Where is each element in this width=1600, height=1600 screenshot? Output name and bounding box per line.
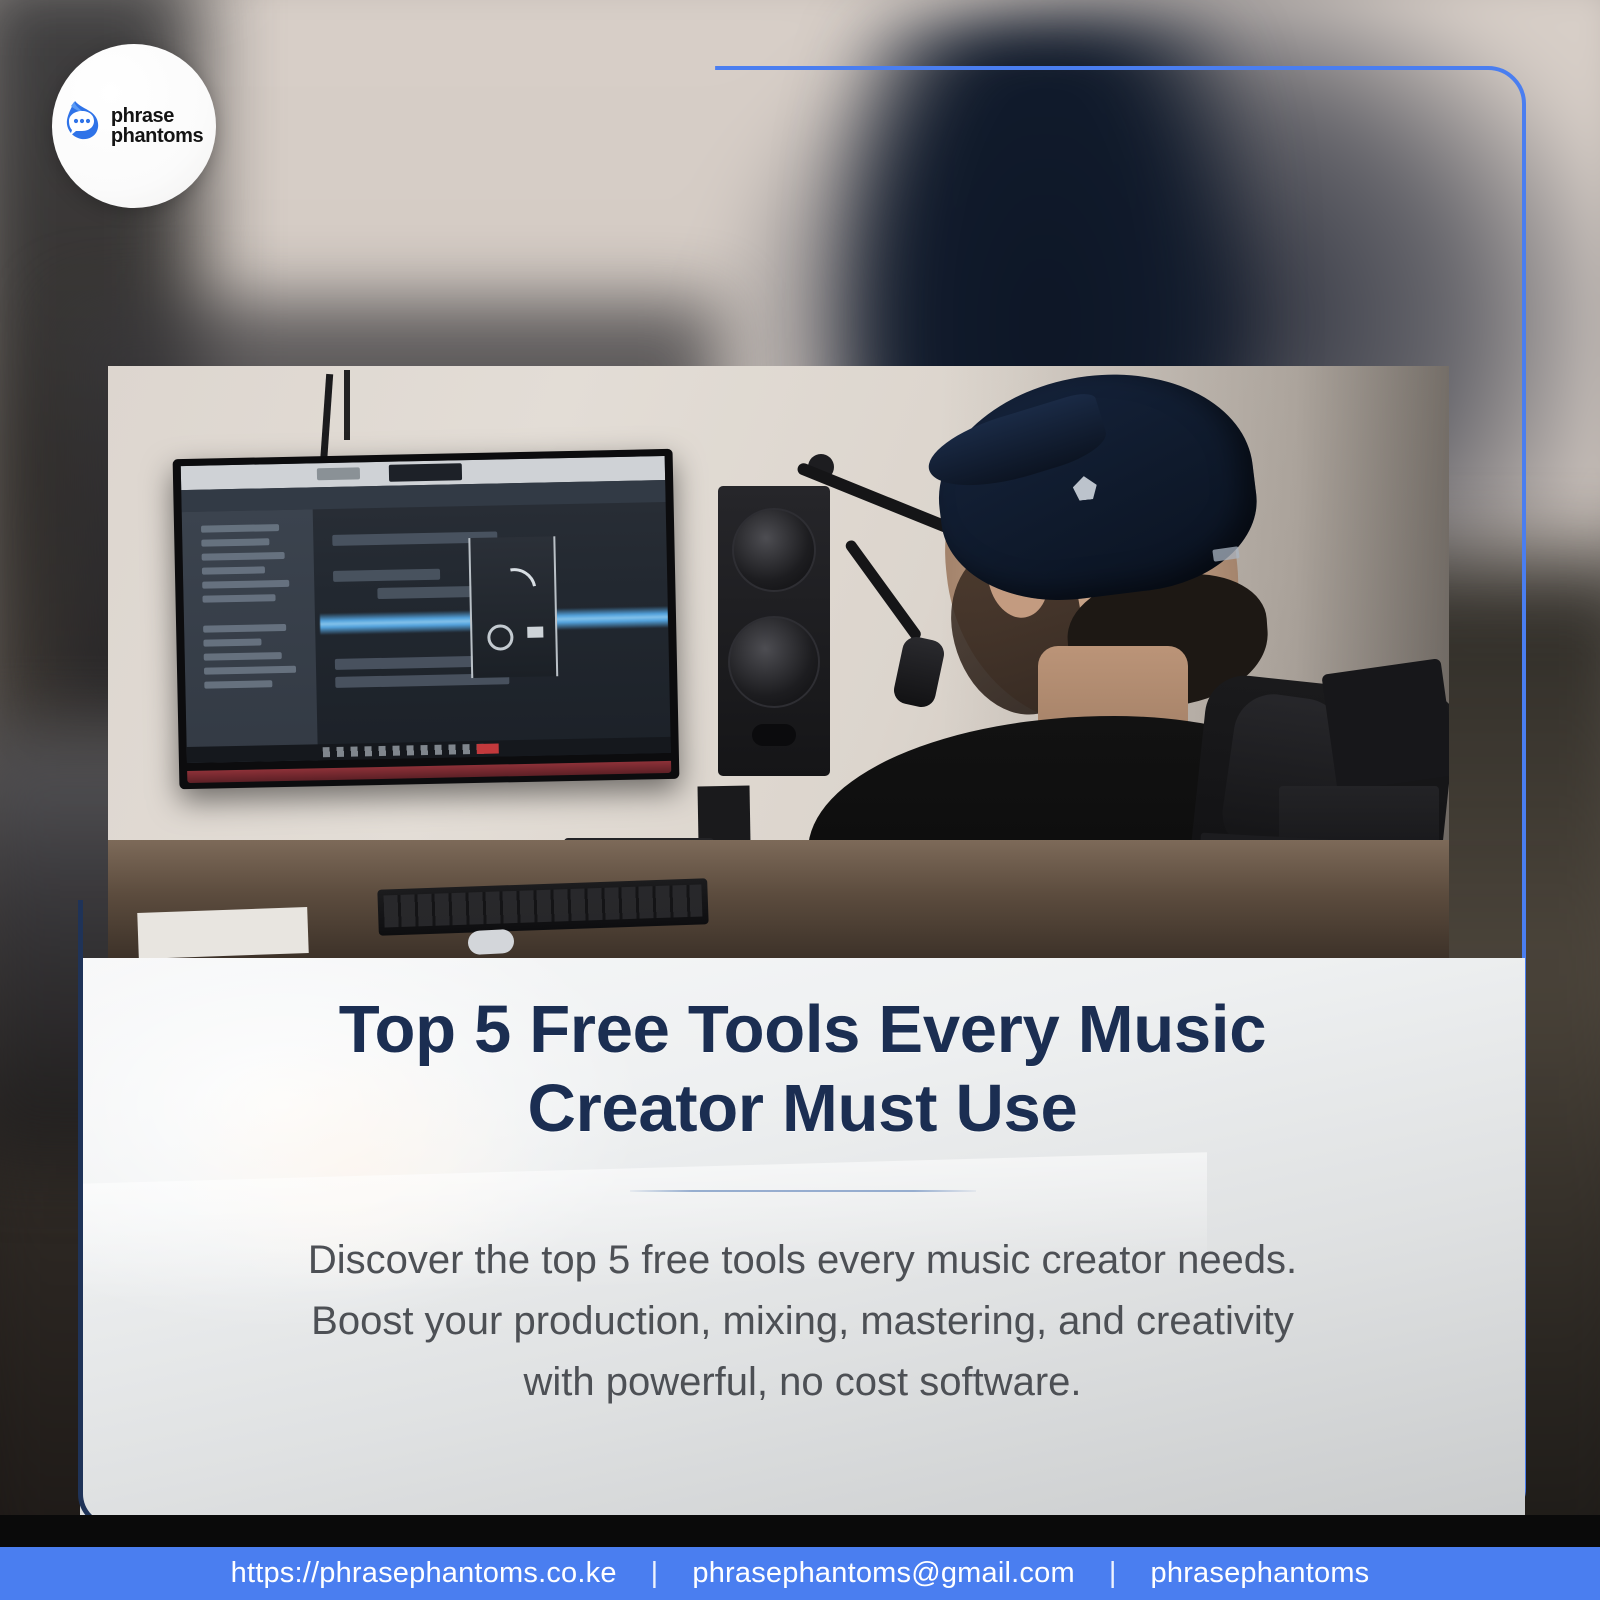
footer-email-link[interactable]: phrasephantoms@gmail.com xyxy=(692,1557,1074,1590)
phantom-speech-bubble-icon xyxy=(61,99,105,154)
brand-wordmark: phrase phantoms xyxy=(111,106,203,146)
desk-surface xyxy=(108,840,1449,960)
brand-logo-inner: phrase phantoms xyxy=(61,99,203,154)
content-card: Top 5 Free Tools Every Music Creator Mus… xyxy=(80,958,1525,1525)
studio-monitor-speaker xyxy=(718,486,830,776)
contact-footer-bar: https://phrasephantoms.co.ke | phrasepha… xyxy=(0,1547,1600,1600)
computer-monitor xyxy=(173,449,680,789)
speaker-woofer-icon xyxy=(728,616,820,708)
daw-plugin-window xyxy=(468,536,558,678)
daw-track-row xyxy=(202,566,265,574)
page-title: Top 5 Free Tools Every Music Creator Mus… xyxy=(80,990,1525,1148)
monitor-screen xyxy=(181,456,671,763)
daw-track-row xyxy=(203,594,276,603)
taskbar-record-indicator xyxy=(477,743,499,753)
plugin-knob-icon xyxy=(487,624,514,651)
title-divider xyxy=(630,1190,976,1192)
page-subtitle-line-3: with powerful, no cost software. xyxy=(80,1352,1525,1413)
page-title-line-1: Top 5 Free Tools Every Music xyxy=(80,990,1525,1069)
speaker-tweeter-icon xyxy=(732,508,816,592)
footer-separator-1: | xyxy=(617,1557,693,1590)
footer-website-link[interactable]: https://phrasephantoms.co.ke xyxy=(231,1557,617,1590)
daw-track-list xyxy=(182,509,318,763)
blue-accent-frame-stub xyxy=(785,66,797,70)
page-title-line-2: Creator Must Use xyxy=(80,1069,1525,1148)
monitor-bottom-bezel xyxy=(187,761,671,783)
page-subtitle-line-1: Discover the top 5 free tools every musi… xyxy=(80,1230,1525,1291)
footer-separator-2: | xyxy=(1075,1557,1151,1590)
daw-track-row xyxy=(204,638,262,646)
brand-logo-badge[interactable]: phrase phantoms xyxy=(52,44,216,208)
brand-name-line-2: phantoms xyxy=(111,126,203,146)
keyboard-keys xyxy=(384,884,703,927)
footer-dark-strip xyxy=(0,1515,1600,1547)
speaker-bass-port xyxy=(752,724,796,746)
computer-mouse xyxy=(467,929,514,955)
daw-time-display xyxy=(389,463,462,482)
brand-name-line-1: phrase xyxy=(111,106,203,126)
daw-toolbar-chip xyxy=(316,467,360,480)
page-subtitle-line-2: Boost your production, mixing, mastering… xyxy=(80,1291,1525,1352)
footer-social-handle[interactable]: phrasephantoms xyxy=(1151,1557,1370,1590)
daw-track-row xyxy=(205,680,273,688)
desk-paper xyxy=(137,907,309,959)
daw-audio-clip xyxy=(333,569,440,582)
studio-photo xyxy=(108,366,1449,960)
plugin-arc-meter-icon xyxy=(484,559,545,620)
monitor-stand xyxy=(698,786,751,843)
page-subtitle: Discover the top 5 free tools every musi… xyxy=(80,1230,1525,1414)
social-media-post: Top 5 Free Tools Every Music Creator Mus… xyxy=(0,0,1600,1600)
daw-audio-clip xyxy=(377,586,484,599)
studio-gear-right-top xyxy=(1321,658,1449,792)
daw-track-row xyxy=(202,538,270,546)
plugin-value-readout xyxy=(527,626,543,637)
daw-audio-clip xyxy=(335,656,480,670)
mic-stand-pole-secondary-icon xyxy=(344,370,350,440)
